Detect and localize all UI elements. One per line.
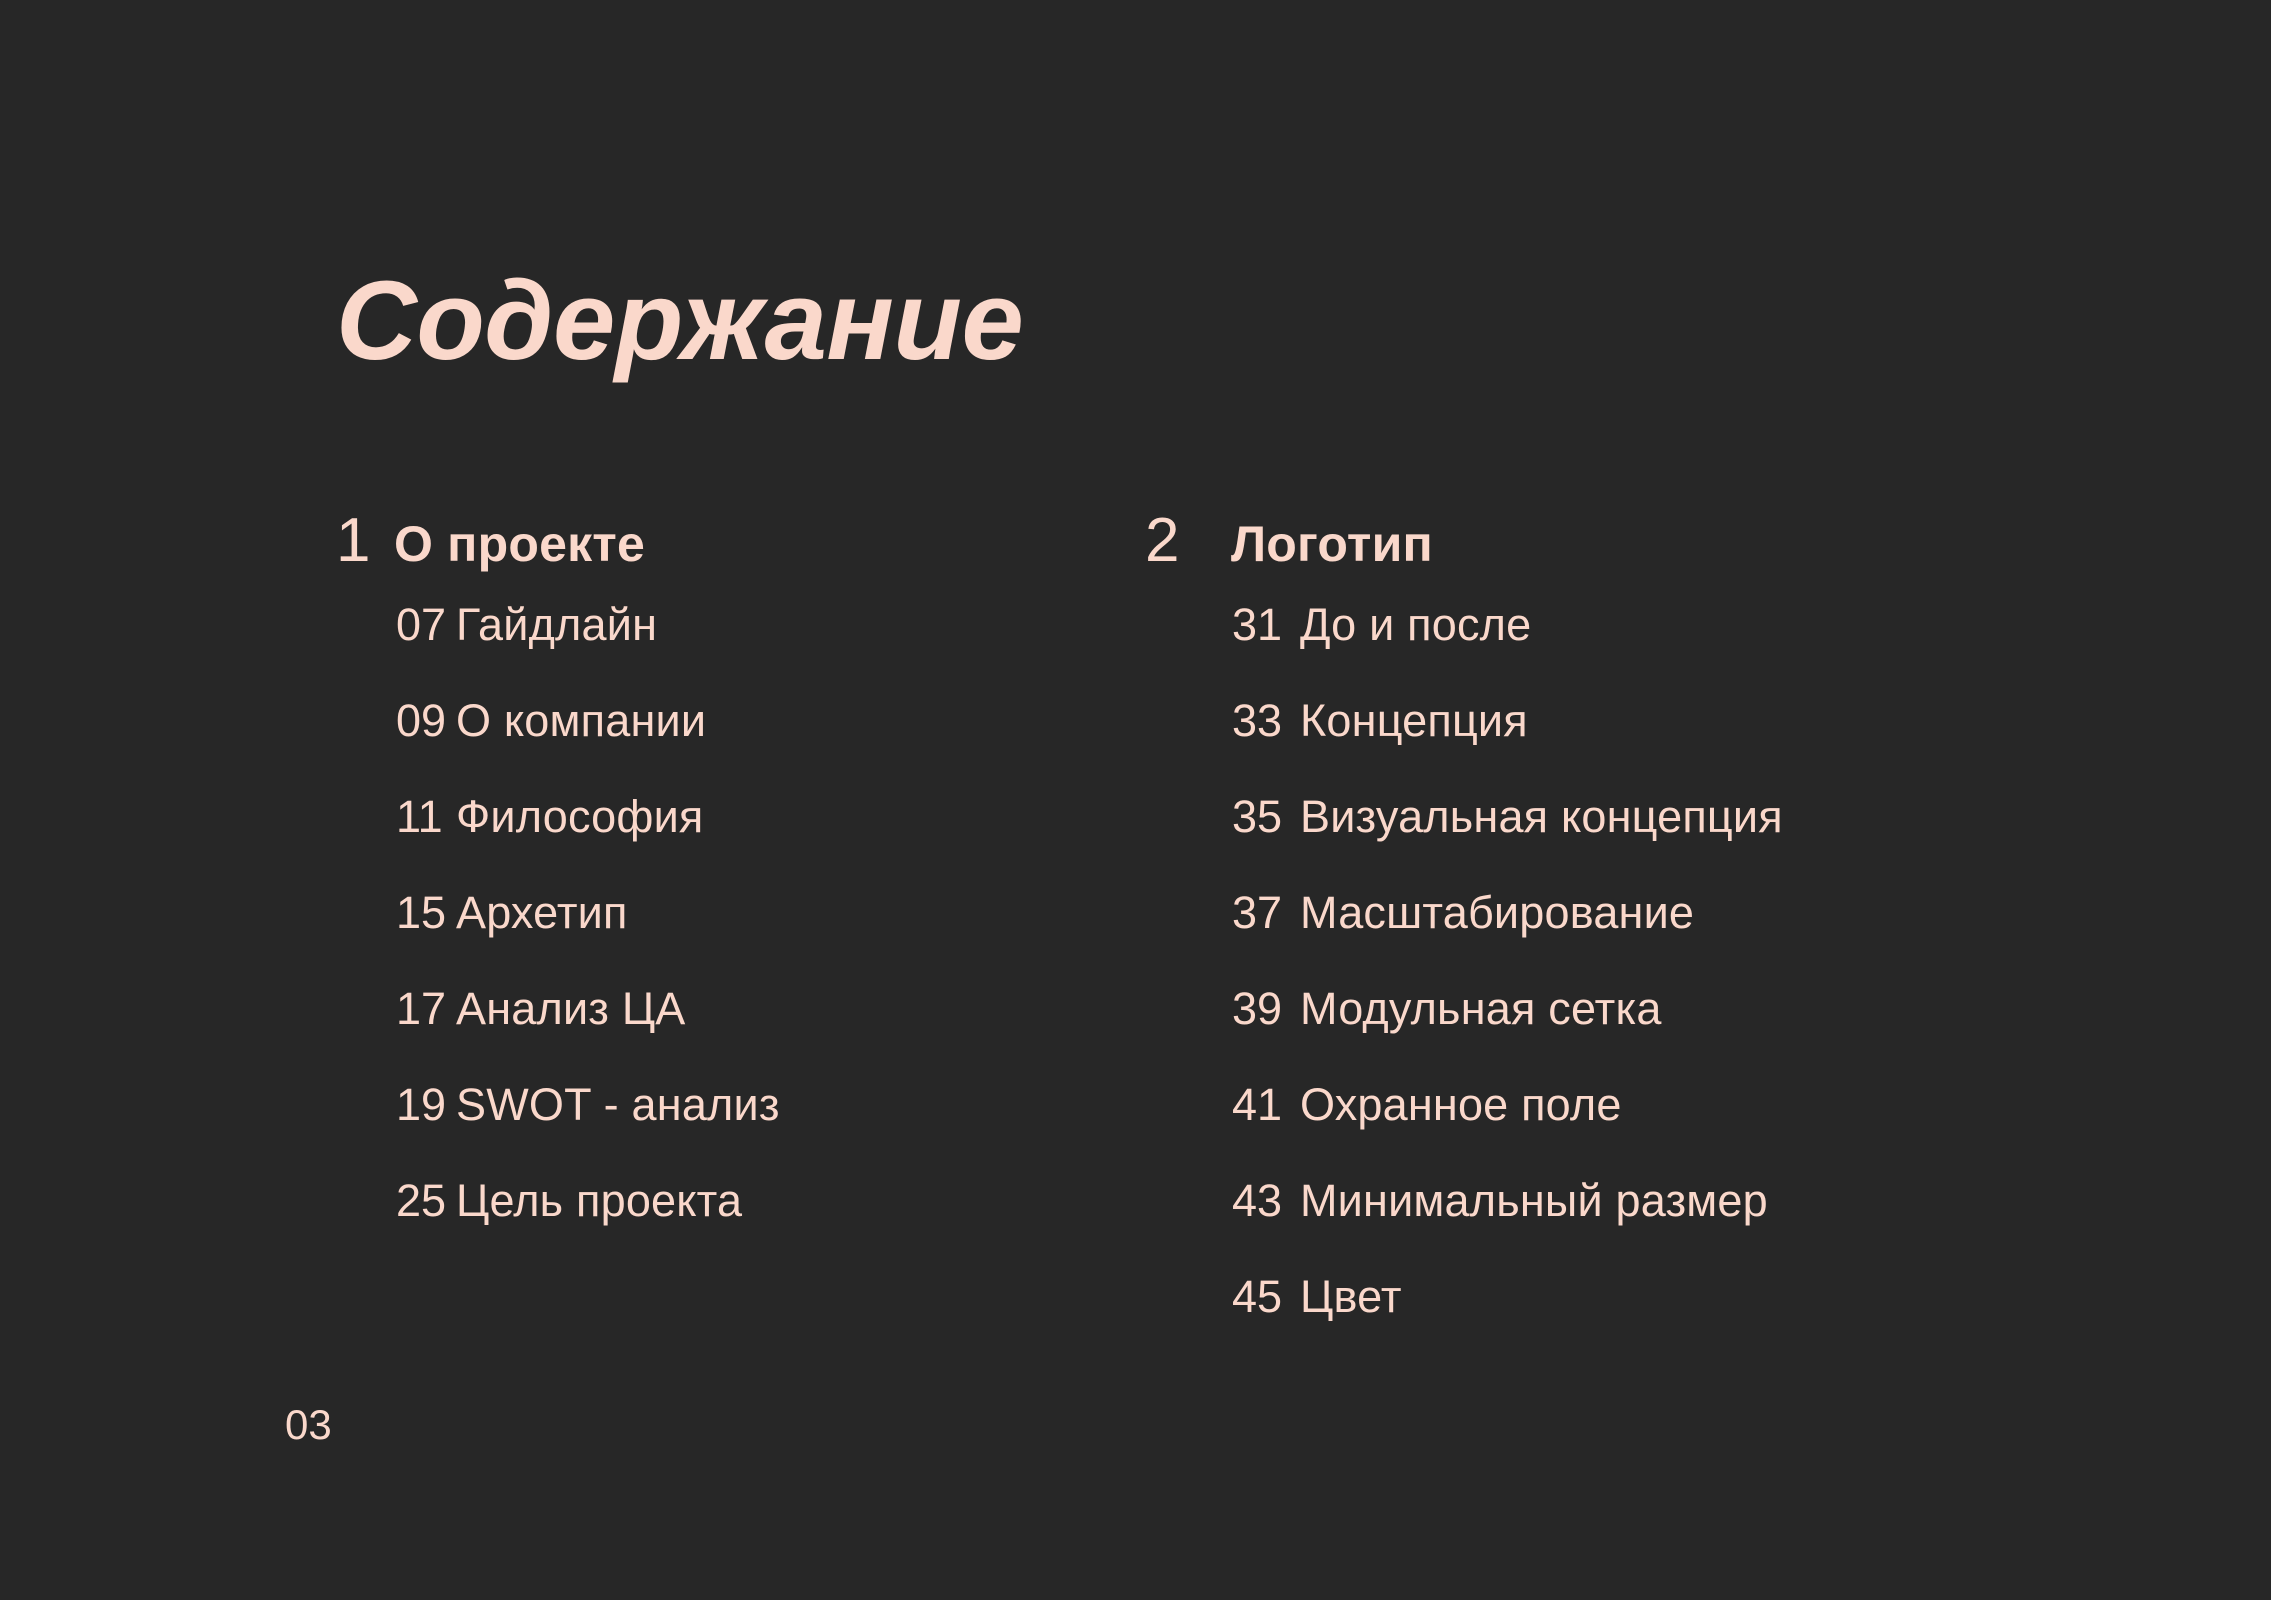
toc-entry-label: Концепция <box>1300 698 1528 743</box>
toc-entry[interactable]: 09 О компании <box>336 698 780 794</box>
toc-entry-page: 19 <box>396 1082 456 1127</box>
toc-entry-page: 45 <box>1232 1274 1300 1319</box>
toc-entry-label: Модульная сетка <box>1300 986 1662 1031</box>
toc-entry-page: 11 <box>396 794 456 839</box>
toc-entry[interactable]: 19 SWOT - анализ <box>336 1082 780 1178</box>
toc-entry[interactable]: 41 Охранное поле <box>1145 1082 1783 1178</box>
section-number-1: 1 <box>336 510 394 572</box>
toc-entry-page: 15 <box>396 890 456 935</box>
toc-entry-page: 37 <box>1232 890 1300 935</box>
toc-entry-label: Анализ ЦА <box>456 986 686 1031</box>
toc-entry-label: Философия <box>456 794 704 839</box>
toc-entry-page: 25 <box>396 1178 456 1223</box>
toc-entry[interactable]: 39 Модульная сетка <box>1145 986 1783 1082</box>
toc-entry-label: Цель проекта <box>456 1178 742 1223</box>
toc-entry[interactable]: 35 Визуальная концепция <box>1145 794 1783 890</box>
toc-entry-page: 07 <box>396 602 456 647</box>
toc-entry-label: Охранное поле <box>1300 1082 1622 1127</box>
section-label-2: Логотип <box>1231 519 1433 569</box>
toc-entry[interactable]: 15 Архетип <box>336 890 780 986</box>
toc-entry[interactable]: 25 Цель проекта <box>336 1178 780 1274</box>
toc-list-1: 07 Гайдлайн 09 О компании 11 Философия 1… <box>336 602 780 1274</box>
toc-entry[interactable]: 17 Анализ ЦА <box>336 986 780 1082</box>
toc-entry-page: 39 <box>1232 986 1300 1031</box>
toc-entry-page: 33 <box>1232 698 1300 743</box>
section-label-1: О проекте <box>394 519 645 569</box>
toc-entry-label: Цвет <box>1300 1274 1402 1319</box>
section-header-2: 2 Логотип <box>1145 510 1783 602</box>
toc-list-2: 31 До и после 33 Концепция 35 Визуальная… <box>1145 602 1783 1370</box>
toc-entry-page: 35 <box>1232 794 1300 839</box>
toc-entry-label: Масштабирование <box>1300 890 1694 935</box>
toc-entry-page: 43 <box>1232 1178 1300 1223</box>
toc-entry-label: О компании <box>456 698 706 743</box>
page-title: Содержание <box>336 262 1023 380</box>
toc-entry[interactable]: 45 Цвет <box>1145 1274 1783 1370</box>
toc-entry-page: 41 <box>1232 1082 1300 1127</box>
toc-entry-label: Визуальная концепция <box>1300 794 1783 839</box>
toc-entry-label: Минимальный размер <box>1300 1178 1768 1223</box>
toc-entry[interactable]: 07 Гайдлайн <box>336 602 780 698</box>
section-header-1: 1 О проекте <box>336 510 780 602</box>
page-number: 03 <box>285 1404 332 1446</box>
toc-entry[interactable]: 31 До и после <box>1145 602 1783 698</box>
toc-entry-label: Архетип <box>456 890 628 935</box>
toc-entry-label: До и после <box>1300 602 1531 647</box>
toc-entry-page: 17 <box>396 986 456 1031</box>
toc-entry[interactable]: 33 Концепция <box>1145 698 1783 794</box>
toc-entry-page: 31 <box>1232 602 1300 647</box>
toc-entry[interactable]: 11 Философия <box>336 794 780 890</box>
section-number-2: 2 <box>1145 510 1231 572</box>
toc-entry-page: 09 <box>396 698 456 743</box>
toc-entry-label: Гайдлайн <box>456 602 657 647</box>
slide-canvas: Содержание 1 О проекте 07 Гайдлайн 09 О … <box>0 0 2271 1600</box>
toc-entry[interactable]: 37 Масштабирование <box>1145 890 1783 986</box>
toc-entry[interactable]: 43 Минимальный размер <box>1145 1178 1783 1274</box>
toc-entry-label: SWOT - анализ <box>456 1082 780 1127</box>
toc-column-1: 1 О проекте 07 Гайдлайн 09 О компании 11… <box>336 510 780 1274</box>
toc-column-2: 2 Логотип 31 До и после 33 Концепция 35 … <box>1145 510 1783 1370</box>
